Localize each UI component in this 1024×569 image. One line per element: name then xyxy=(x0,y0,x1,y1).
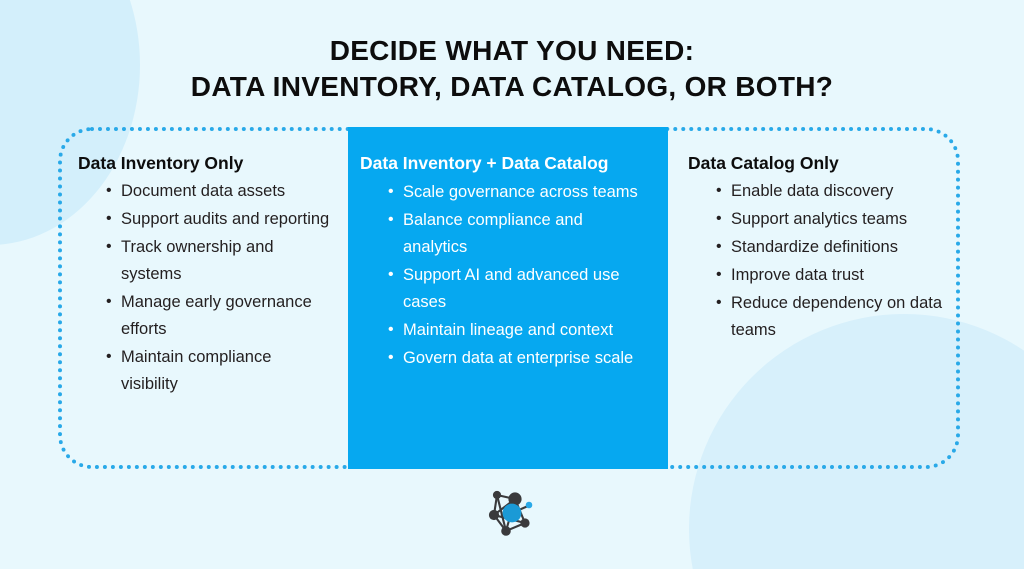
logo-container xyxy=(0,487,1024,541)
page-title-line-1: DECIDE WHAT YOU NEED: xyxy=(0,33,1024,69)
network-graph-logo xyxy=(484,487,540,541)
list-item: Reduce dependency on data teams xyxy=(716,290,950,344)
list-item: Support analytics teams xyxy=(716,206,950,233)
list-item: Scale governance across teams xyxy=(388,179,650,206)
column-bullet-list: Document data assets Support audits and … xyxy=(78,178,332,398)
list-item: Standardize definitions xyxy=(716,234,950,261)
column-bullet-list: Enable data discovery Support analytics … xyxy=(688,178,950,344)
list-item: Document data assets xyxy=(106,178,332,205)
logo-accent-node xyxy=(503,504,522,523)
column-heading: Data Inventory Only xyxy=(78,153,332,174)
column-data-inventory-only: Data Inventory Only Document data assets… xyxy=(58,127,348,469)
list-item: Maintain lineage and context xyxy=(388,317,650,344)
column-data-catalog-only: Data Catalog Only Enable data discovery … xyxy=(668,127,960,469)
list-item: Track ownership and systems xyxy=(106,234,332,288)
logo-node xyxy=(508,492,521,505)
list-item: Balance compliance and analytics xyxy=(388,207,650,261)
logo-node xyxy=(493,491,501,499)
list-item: Govern data at enterprise scale xyxy=(388,345,650,372)
column-bullet-list: Scale governance across teams Balance co… xyxy=(360,179,650,372)
list-item: Enable data discovery xyxy=(716,178,950,205)
column-data-inventory-plus-data-catalog: Data Inventory + Data Catalog Scale gove… xyxy=(348,127,668,469)
comparison-columns: Data Inventory Only Document data assets… xyxy=(58,127,960,469)
list-item: Improve data trust xyxy=(716,262,950,289)
page-title: DECIDE WHAT YOU NEED: DATA INVENTORY, DA… xyxy=(0,33,1024,105)
list-item: Support audits and reporting xyxy=(106,206,332,233)
page-title-line-2: DATA INVENTORY, DATA CATALOG, OR BOTH? xyxy=(0,69,1024,105)
column-heading: Data Inventory + Data Catalog xyxy=(360,153,650,174)
column-heading: Data Catalog Only xyxy=(688,153,950,174)
logo-node xyxy=(501,526,511,536)
list-item: Maintain compliance visibility xyxy=(106,344,332,398)
logo-accent-node-small xyxy=(526,502,533,509)
list-item: Support AI and advanced use cases xyxy=(388,262,650,316)
logo-node xyxy=(489,510,499,520)
list-item: Manage early governance efforts xyxy=(106,289,332,343)
logo-node xyxy=(520,518,529,527)
